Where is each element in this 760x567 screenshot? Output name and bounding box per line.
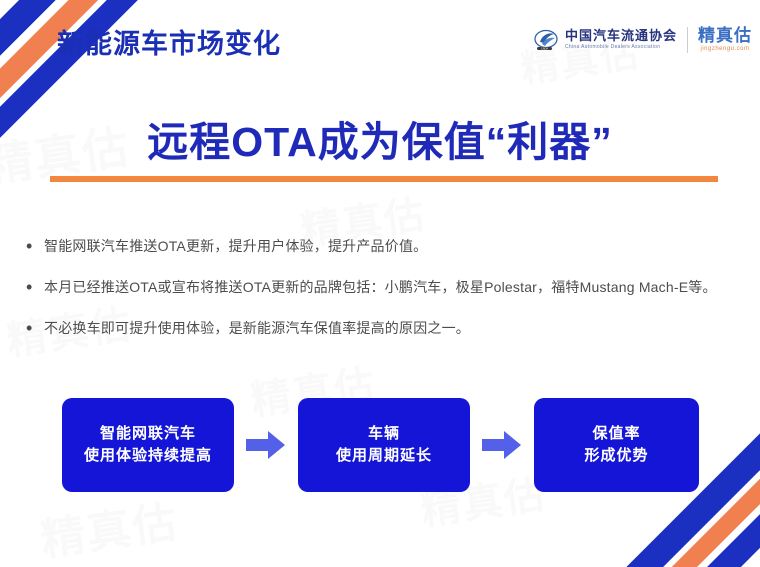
list-item: • 智能网联汽车推送OTA更新，提升用户体验，提升产品价值。 [22,236,738,256]
bullet-list: • 智能网联汽车推送OTA更新，提升用户体验，提升产品价值。 • 本月已经推送O… [22,236,738,359]
flow-step-3-line-1: 保值率 [592,423,640,445]
logo-group: CADA 中国汽车流通协会 China Automobile Dealers A… [534,26,752,54]
association-logo-text: 中国汽车流通协会 China Automobile Dealers Associ… [565,29,677,51]
slide-header: 新能源车市场变化 CADA 中国汽车流通协会 China Automobile … [0,0,760,84]
brand-logo: 精真估 jingzhengu.com [698,26,752,54]
list-item: • 不必换车即可提升使用体验，是新能源汽车保值率提高的原因之一。 [22,318,738,338]
association-logo: CADA 中国汽车流通协会 China Automobile Dealers A… [534,29,677,51]
brand-name-en: jingzhengu.com [700,45,749,54]
cada-bird-logo-icon: CADA [534,29,560,51]
list-item-text: 不必换车即可提升使用体验，是新能源汽车保值率提高的原因之一。 [44,318,470,338]
bullet-marker-icon: • [22,318,44,338]
svg-text:CADA: CADA [541,48,548,51]
flow-step-2-line-2: 使用周期延长 [336,445,432,467]
right-arrow-icon [470,430,534,460]
title-underline-rule [50,176,718,182]
list-item: • 本月已经推送OTA或宣布将推送OTA更新的品牌包括：小鹏汽车，极星Poles… [22,277,738,297]
flow-step-2: 车辆 使用周期延长 [298,398,470,492]
brand-name-cn: 精真估 [698,26,752,45]
flow-step-3: 保值率 形成优势 [534,398,699,492]
slide-canvas: 精真估 精真估 精真估 精真估 精真估 精真估 精真估 新能源车市场变化 CAD… [0,0,760,567]
flow-step-1-line-2: 使用体验持续提高 [84,445,212,467]
logo-divider [687,27,688,53]
watermark: 精真估 [36,486,182,567]
flow-step-1: 智能网联汽车 使用体验持续提高 [62,398,234,492]
right-arrow-icon [234,430,298,460]
flow-step-2-line-1: 车辆 [368,423,400,445]
flow-step-1-line-1: 智能网联汽车 [100,423,196,445]
list-item-text: 本月已经推送OTA或宣布将推送OTA更新的品牌包括：小鹏汽车，极星Polesta… [44,277,717,297]
bullet-marker-icon: • [22,277,44,297]
association-name-cn: 中国汽车流通协会 [565,29,677,43]
flow-diagram: 智能网联汽车 使用体验持续提高 车辆 使用周期延长 保值率 形成优势 [62,398,702,492]
list-item-text: 智能网联汽车推送OTA更新，提升用户体验，提升产品价值。 [44,236,427,256]
header-title: 新能源车市场变化 [57,22,281,61]
bullet-marker-icon: • [22,236,44,256]
flow-step-3-line-2: 形成优势 [584,445,648,467]
association-name-en: China Automobile Dealers Association [565,43,677,51]
page-title: 远程OTA成为保值“利器” [0,108,760,168]
